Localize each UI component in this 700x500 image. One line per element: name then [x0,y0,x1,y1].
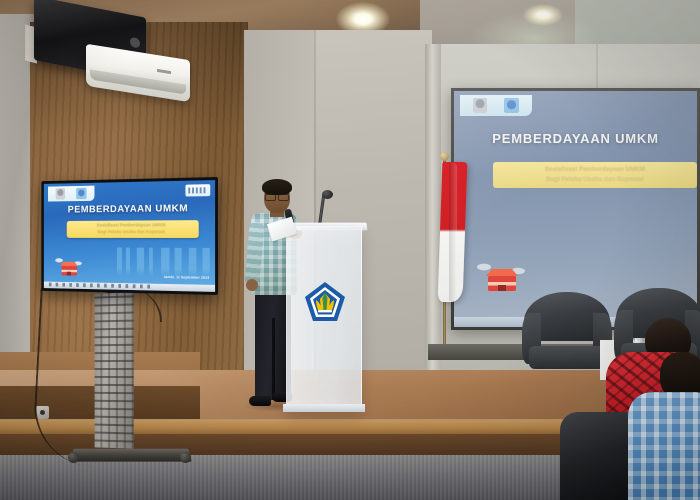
presenter-leg-split [272,318,275,400]
partner-logo-badge-icon [185,184,210,196]
photo-scene: PEMBERDAYAAN UMKM Sosialisasi Pemberdaya… [0,0,700,500]
slide-title: PEMBERDAYAAN UMKM [44,202,215,215]
slide-date: Jambi, 11 September 2023 [164,275,210,280]
flag-finial [440,152,449,161]
presenter-hand [246,279,258,291]
recessed-downlight-icon [523,4,563,26]
foreground-chair-back [560,412,636,500]
slide-logo-tab [48,186,94,202]
chair-seat [529,346,605,369]
tub-armchair [524,292,610,374]
slide-subtitle-line-2: Bagi Pelaku Usaha dan Koperasi [69,229,196,236]
eyeglasses-icon [265,193,289,198]
wall-pillar [425,44,441,374]
market-shop-illustration [55,256,84,277]
slide-subtitle-box: Sosialisasi Pemberdayaan UMKM Bagi Pelak… [66,220,198,237]
caster-wheel [180,452,191,463]
audience-blue-plaid-shirt [628,392,700,500]
tv-taskbar [44,282,215,292]
tv-screen-surface: PEMBERDAYAAN UMKM Sosialisasi Pemberdaya… [44,180,215,292]
podium-microphone-icon [322,190,333,199]
presenter-shoe [249,396,271,406]
flag-fold [449,163,457,301]
podium-base [283,404,365,412]
garuda-logo-icon [56,188,65,199]
flat-screen-tv: PEMBERDAYAAN UMKM Sosialisasi Pemberdaya… [41,177,218,295]
kemenkeu-logo-icon [76,188,86,200]
kemenkeu-emblem-icon [303,280,347,324]
city-skyline-illustration [111,247,213,277]
